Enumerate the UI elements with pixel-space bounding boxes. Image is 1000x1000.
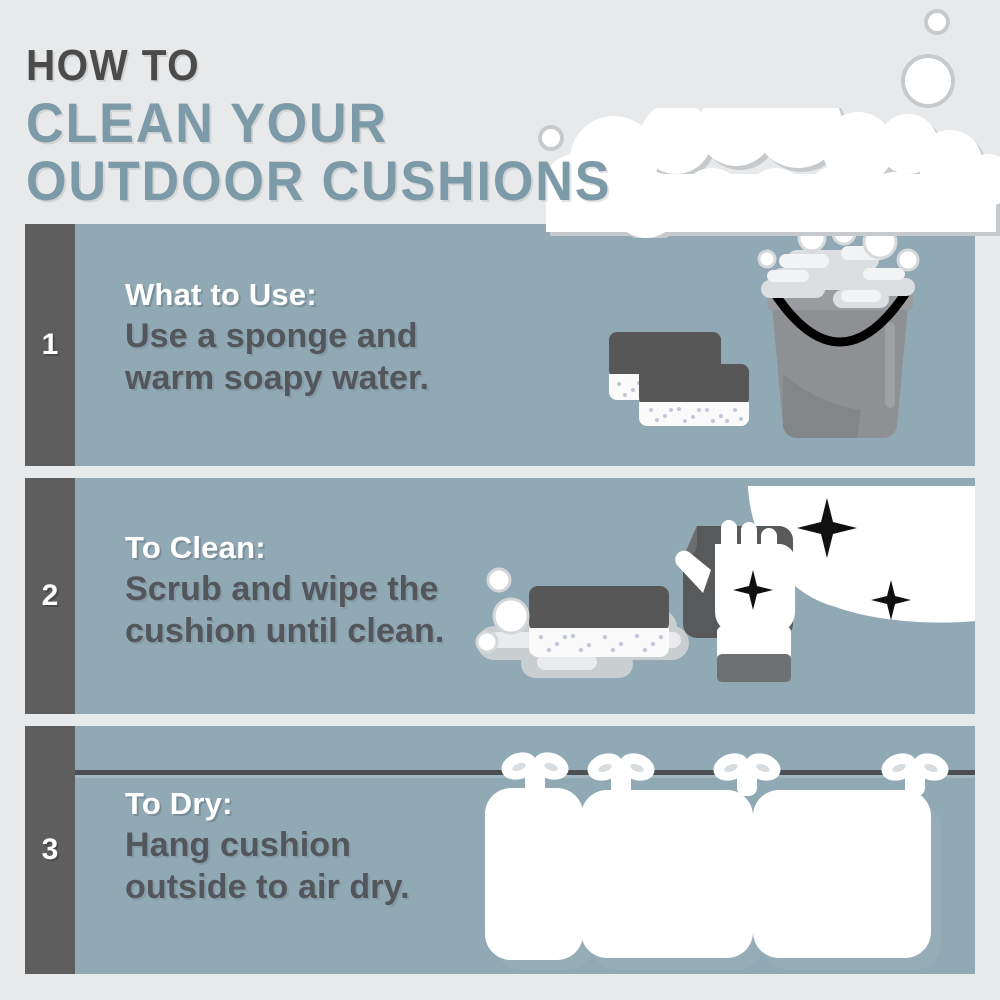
cleaning-cloth [683, 526, 793, 638]
step-body-1: Use a sponge and warm soapy water. [125, 315, 429, 399]
step-body-3: Hang cushion outside to air dry. [125, 824, 410, 908]
sponge-lower [639, 364, 749, 426]
step-number-1: 1 [42, 330, 59, 360]
floating-bubbles [477, 569, 528, 652]
step-copy-3: To Dry: Hang cushion outside to air dry. [125, 786, 410, 908]
sparkles-icon [733, 498, 911, 620]
step-heading-2: To Clean: [125, 530, 444, 566]
bubble-large-top-right-icon [905, 58, 951, 104]
step-body-2-line-1: Scrub and wipe the [125, 568, 444, 610]
bucket [767, 288, 913, 438]
page-title-line-1: CLEAN YOUR [26, 94, 611, 152]
wipe-swipe [748, 486, 975, 623]
hanging-cushion [581, 749, 763, 970]
header: HOW TO CLEAN YOUR OUTDOOR CUSHIONS [0, 0, 1000, 224]
step-body-3-line-2: outside to air dry. [125, 866, 410, 908]
step-number-strip-1: 1 [25, 224, 75, 466]
illustration-bucket-with-suds [595, 224, 975, 466]
sponge-upper [609, 332, 721, 400]
step-heading-1: What to Use: [125, 277, 429, 313]
bubble-small-top-right-icon [928, 13, 946, 31]
title-block: HOW TO CLEAN YOUR OUTDOOR CUSHIONS [26, 44, 655, 210]
sponge-scrubbing [529, 586, 669, 657]
step-body-3-line-1: Hang cushion [125, 824, 410, 866]
glove-cuff [717, 654, 791, 682]
step-heading-3: To Dry: [125, 786, 410, 822]
step-panel-3: 3 [25, 726, 975, 974]
foam-puddle [477, 610, 689, 678]
step-body-1-line-1: Use a sponge and [125, 315, 429, 357]
step-panel-1: 1 [25, 224, 975, 466]
step-body-2-line-2: cushion until clean. [125, 610, 444, 652]
step-number-strip-2: 2 [25, 478, 75, 714]
step-number-3: 3 [42, 835, 59, 865]
illustration-cushions-on-line [455, 726, 975, 974]
page-title-line-2: OUTDOOR CUSHIONS [26, 152, 611, 210]
step-number-2: 2 [42, 581, 59, 611]
eyebrow-how-to: HOW TO [26, 44, 605, 88]
step-panel-2: 2 [25, 478, 975, 714]
hanging-cushion [710, 749, 953, 970]
gloved-hand-icon [675, 520, 795, 660]
step-body-1-line-2: warm soapy water. [125, 357, 429, 399]
hanging-cushion [485, 748, 593, 970]
step-copy-1: What to Use: Use a sponge and warm soapy… [125, 277, 429, 399]
clothesline [75, 770, 975, 775]
step-number-strip-3-overlay: 3 [25, 726, 75, 974]
step-body-2: Scrub and wipe the cushion until clean. [125, 568, 444, 652]
infographic-canvas: HOW TO CLEAN YOUR OUTDOOR CUSHIONS 1 [0, 0, 1000, 1000]
step-copy-2: To Clean: Scrub and wipe the cushion unt… [125, 530, 444, 652]
illustration-scrub-and-wipe [475, 478, 975, 714]
page-title: CLEAN YOUR OUTDOOR CUSHIONS [26, 94, 611, 210]
